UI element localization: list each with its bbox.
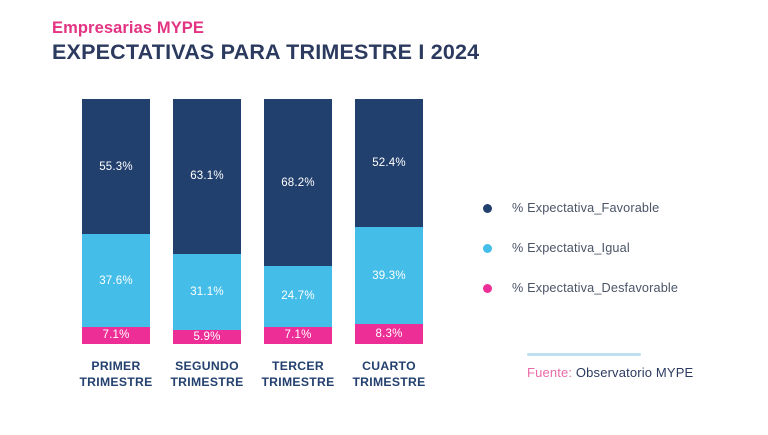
bar-value-label: 7.1% (102, 329, 129, 341)
legend-item[interactable]: % Expectativa_Favorable (483, 188, 678, 228)
page-title: EXPECTATIVAS PARA TRIMESTRE I 2024 (52, 39, 479, 65)
bar-segment[interactable]: 52.4% (355, 99, 423, 227)
legend-dot-igual (483, 244, 492, 253)
x-axis-label-line: TRIMESTRE (337, 374, 441, 390)
x-axis-label: SEGUNDOTRIMESTRE (155, 358, 259, 390)
legend-item[interactable]: % Expectativa_Desfavorable (483, 268, 678, 308)
bar-segment[interactable]: 24.7% (264, 266, 332, 327)
bar-column[interactable]: 68.2%24.7%7.1% (264, 99, 332, 344)
x-axis-label-line: CUARTO (337, 358, 441, 374)
bar-column[interactable]: 52.4%39.3%8.3% (355, 99, 423, 344)
legend-item-label: % Expectativa_Favorable (512, 201, 659, 215)
x-axis-label: TERCERTRIMESTRE (246, 358, 350, 390)
x-axis-label: CUARTOTRIMESTRE (337, 358, 441, 390)
x-axis-label-line: TRIMESTRE (155, 374, 259, 390)
bar-column[interactable]: 63.1%31.1%5.9% (173, 99, 241, 344)
bar-value-label: 24.7% (281, 290, 315, 302)
stacked-bar-chart-plot: 55.3%37.6%7.1%63.1%31.1%5.9%68.2%24.7%7.… (82, 99, 426, 344)
source-value: Observatorio MYPE (576, 365, 693, 380)
bar-segment[interactable]: 7.1% (82, 327, 150, 344)
bar-value-label: 63.1% (190, 170, 224, 182)
bar-segment[interactable]: 68.2% (264, 99, 332, 266)
x-axis-label-line: PRIMER (64, 358, 168, 374)
legend-item-label: % Expectativa_Igual (512, 241, 630, 255)
bar-segment[interactable]: 37.6% (82, 234, 150, 326)
source-prefix: Fuente: (527, 365, 572, 380)
x-axis-label-line: TRIMESTRE (246, 374, 350, 390)
bar-segment[interactable]: 63.1% (173, 99, 241, 254)
x-axis-label-line: TRIMESTRE (64, 374, 168, 390)
source-divider (527, 353, 641, 356)
bar-segment[interactable]: 5.9% (173, 330, 241, 344)
bar-value-label: 8.3% (375, 328, 402, 340)
chart-kicker: Empresarias MYPE (52, 18, 479, 38)
x-axis-label-line: TERCER (246, 358, 350, 374)
legend-dot-favorable (483, 204, 492, 213)
legend-item[interactable]: % Expectativa_Igual (483, 228, 678, 268)
bar-value-label: 37.6% (99, 275, 133, 287)
bar-value-label: 55.3% (99, 161, 133, 173)
bar-segment[interactable]: 7.1% (264, 327, 332, 344)
x-axis-label-line: SEGUNDO (155, 358, 259, 374)
source-note: Fuente: Observatorio MYPE (527, 353, 747, 380)
chart-legend: % Expectativa_Favorable% Expectativa_Igu… (483, 188, 678, 308)
bar-value-label: 5.9% (193, 331, 220, 343)
bar-value-label: 7.1% (284, 329, 311, 341)
bar-value-label: 39.3% (372, 270, 406, 282)
x-axis-label: PRIMERTRIMESTRE (64, 358, 168, 390)
bar-value-label: 52.4% (372, 157, 406, 169)
chart-header: Empresarias MYPE EXPECTATIVAS PARA TRIME… (52, 18, 479, 65)
legend-dot-desfavorable (483, 284, 492, 293)
legend-item-label: % Expectativa_Desfavorable (512, 281, 678, 295)
bar-value-label: 31.1% (190, 286, 224, 298)
bar-segment[interactable]: 8.3% (355, 324, 423, 344)
bar-segment[interactable]: 31.1% (173, 254, 241, 330)
x-axis-labels: PRIMERTRIMESTRESEGUNDOTRIMESTRETERCERTRI… (82, 358, 426, 392)
bar-segment[interactable]: 55.3% (82, 99, 150, 234)
bar-value-label: 68.2% (281, 177, 315, 189)
bar-column[interactable]: 55.3%37.6%7.1% (82, 99, 150, 344)
bar-segment[interactable]: 39.3% (355, 227, 423, 323)
